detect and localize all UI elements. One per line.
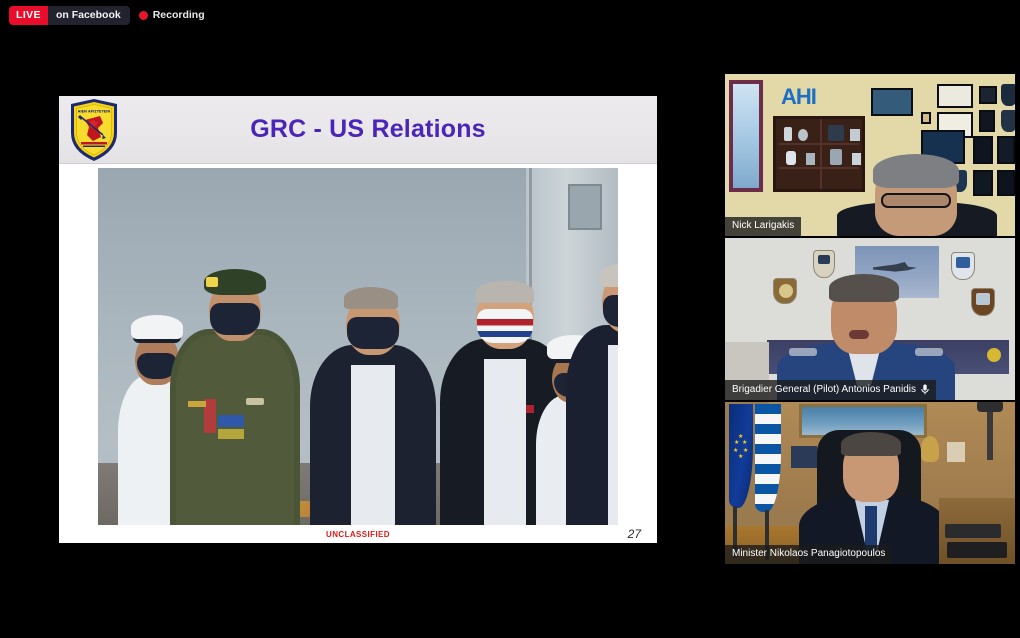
wall-frame-4 — [997, 136, 1015, 164]
wall-picture-frame — [871, 88, 913, 116]
wall-plaque-1 — [813, 250, 835, 278]
participant-open-mouth — [849, 330, 869, 339]
wall-shield-plaque — [1001, 84, 1015, 106]
participant-tile-nick-larigakis[interactable]: AHI — [725, 74, 1015, 236]
photo-person-civilian-suit-center — [310, 253, 436, 525]
photo-person-civilian-suit-right — [566, 225, 618, 525]
photo-ship-vent — [568, 184, 602, 230]
participant-hair — [841, 432, 901, 456]
broadcast-status-strip: LIVE on Facebook Recording — [9, 6, 205, 25]
wall-frame-5 — [973, 170, 993, 196]
wall-plaque-2 — [773, 278, 797, 304]
live-destination-label: on Facebook — [48, 6, 130, 25]
recording-label: Recording — [153, 10, 205, 21]
photo-scene — [98, 168, 618, 525]
participant-hair — [829, 274, 899, 302]
participant-name: Minister Nikolaos Panagiotopoulos — [732, 549, 885, 559]
participant-video-feed: AHI — [725, 74, 1015, 236]
office-window — [729, 80, 763, 192]
wall-shield-plaque-2 — [1001, 110, 1015, 132]
office-bookshelf — [773, 116, 865, 192]
participant-video-feed: ★ ★ ★ ★ ★ ★ — [725, 402, 1015, 564]
recording-dot-icon — [139, 11, 148, 20]
slide-header-band: AIEN APIΣTEYEIN GRC - US Relations — [59, 96, 657, 164]
wall-certificate — [937, 84, 973, 108]
video-conference-stage: LIVE on Facebook Recording AIEN APIΣTEYE… — [0, 0, 1020, 638]
slide-photograph — [98, 168, 618, 525]
slide-title: GRC - US Relations — [250, 115, 486, 144]
desk-lamp-shade — [977, 402, 1003, 412]
slide-page-number: 27 — [628, 527, 641, 541]
wall-plaque-frame — [979, 86, 997, 104]
aircraft-jet-shape — [873, 262, 917, 274]
uniform-epaulet-right — [915, 348, 943, 356]
live-label: LIVE — [9, 6, 48, 25]
recording-indicator: Recording — [139, 10, 205, 21]
wall-small-frame — [921, 112, 931, 124]
shared-screen-slide[interactable]: AIEN APIΣTEYEIN GRC - US Relations — [59, 96, 657, 543]
uniform-epaulet-left — [789, 348, 817, 356]
classification-marking: UNCLASSIFIED — [326, 530, 390, 539]
participant-tile-column: AHI — [725, 74, 1015, 566]
participant-glasses — [881, 193, 951, 208]
ahi-logo-sign: AHI — [781, 82, 841, 112]
wall-frame-3 — [973, 136, 993, 164]
participant-video-feed — [725, 238, 1015, 400]
participant-hair — [873, 154, 959, 188]
hellenic-army-emblem-icon: AIEN APIΣTEYEIN — [67, 97, 121, 163]
svg-text:AIEN APIΣTEYEIN: AIEN APIΣTEYEIN — [78, 110, 111, 114]
participant-nameplate: Minister Nikolaos Panagiotopoulos — [725, 545, 892, 564]
wall-plaque-frame-2 — [979, 110, 995, 132]
wall-plaque-4 — [971, 288, 995, 316]
wall-icon-frame — [921, 436, 939, 462]
mic-icon — [921, 384, 929, 395]
slide-footer: UNCLASSIFIED 27 — [59, 525, 657, 543]
participant-nameplate: Brigadier General (Pilot) Antonios Panid… — [725, 380, 936, 400]
participant-name: Brigadier General (Pilot) Antonios Panid… — [732, 385, 916, 395]
wall-frame-6 — [997, 170, 1015, 196]
participant-name: Nick Larigakis — [732, 221, 794, 231]
office-desk — [939, 498, 1015, 564]
wall-plaque-3 — [951, 252, 975, 280]
participant-tile-antonios-panidis[interactable]: Brigadier General (Pilot) Antonios Panid… — [725, 238, 1015, 400]
live-on-facebook-badge: LIVE on Facebook — [9, 6, 130, 25]
participant-tile-nikolaos-panagiotopoulos[interactable]: ★ ★ ★ ★ ★ ★ — [725, 402, 1015, 564]
participant-nameplate: Nick Larigakis — [725, 217, 801, 236]
desk-photo-frame — [947, 442, 965, 462]
photo-person-army-general — [170, 235, 300, 525]
desk-books — [791, 446, 817, 468]
